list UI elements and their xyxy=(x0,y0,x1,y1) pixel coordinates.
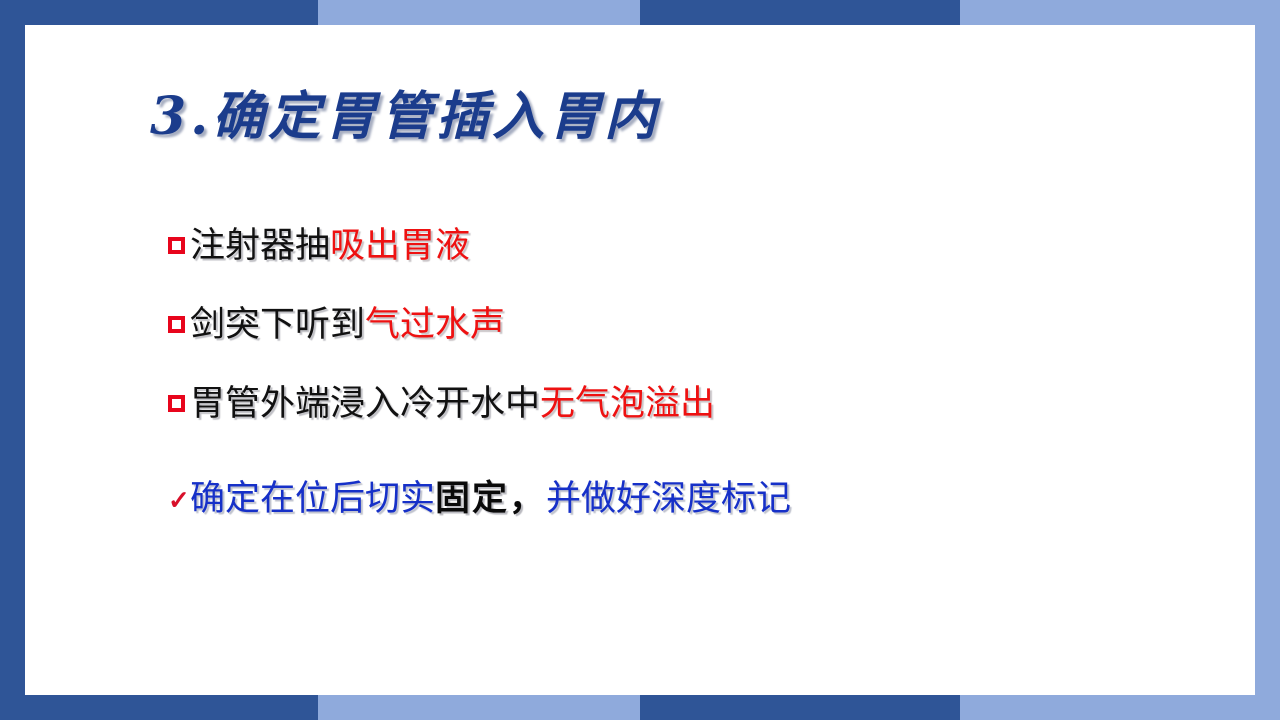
bullet-1-segment-2: 吸出胃液 xyxy=(330,228,470,265)
bullet-4-segment-1: 确定在位后切实 xyxy=(190,481,435,518)
bullet-3-segment-1: 胃管外端浸入冷开水中 xyxy=(190,386,540,423)
frame-band-top-light-left xyxy=(318,0,640,25)
frame-band-bottom-dark-left xyxy=(0,695,318,720)
frame-band-bottom-light-left xyxy=(318,695,640,720)
bullet-item-1: 注射器抽 吸出胃液 xyxy=(168,228,1148,265)
frame-band-top-light-right xyxy=(960,0,1280,25)
bullet-3-segment-2: 无气泡溢出 xyxy=(540,386,715,423)
frame-band-top-dark-left xyxy=(0,0,318,25)
bullet-item-3: 胃管外端浸入冷开水中 无气泡溢出 xyxy=(168,386,1148,423)
hollow-square-icon xyxy=(168,395,185,412)
slide-content-area: 3.确定胃管插入胃内 注射器抽 吸出胃液 剑突下听到 气过水声 胃管外端浸入冷开… xyxy=(25,25,1255,695)
hollow-square-icon xyxy=(168,237,185,254)
frame-band-bottom-light-right xyxy=(960,695,1280,720)
bullet-1-segment-1: 注射器抽 xyxy=(190,228,330,265)
bullet-4-segment-2: 固定， xyxy=(435,470,546,521)
slide-title: 3.确定胃管插入胃内 xyxy=(150,74,660,149)
bullet-item-4: ✓ 确定在位后切实 固定， 并做好深度标记 xyxy=(168,470,1148,521)
hollow-square-icon xyxy=(168,316,185,333)
frame-band-right xyxy=(1255,0,1280,720)
bullet-2-segment-2: 气过水声 xyxy=(365,307,505,344)
frame-band-bottom-dark-right xyxy=(640,695,960,720)
bullet-item-2: 剑突下听到 气过水声 xyxy=(168,307,1148,344)
presentation-slide: 3.确定胃管插入胃内 注射器抽 吸出胃液 剑突下听到 气过水声 胃管外端浸入冷开… xyxy=(0,0,1280,720)
bullet-4-segment-3: 并做好深度标记 xyxy=(546,481,791,518)
checkmark-icon: ✓ xyxy=(168,487,188,513)
frame-band-top-dark-right xyxy=(640,0,960,25)
frame-band-left xyxy=(0,0,25,720)
slide-bullet-list: 注射器抽 吸出胃液 剑突下听到 气过水声 胃管外端浸入冷开水中 无气泡溢出 ✓ … xyxy=(168,228,1148,521)
bullet-2-segment-1: 剑突下听到 xyxy=(190,307,365,344)
